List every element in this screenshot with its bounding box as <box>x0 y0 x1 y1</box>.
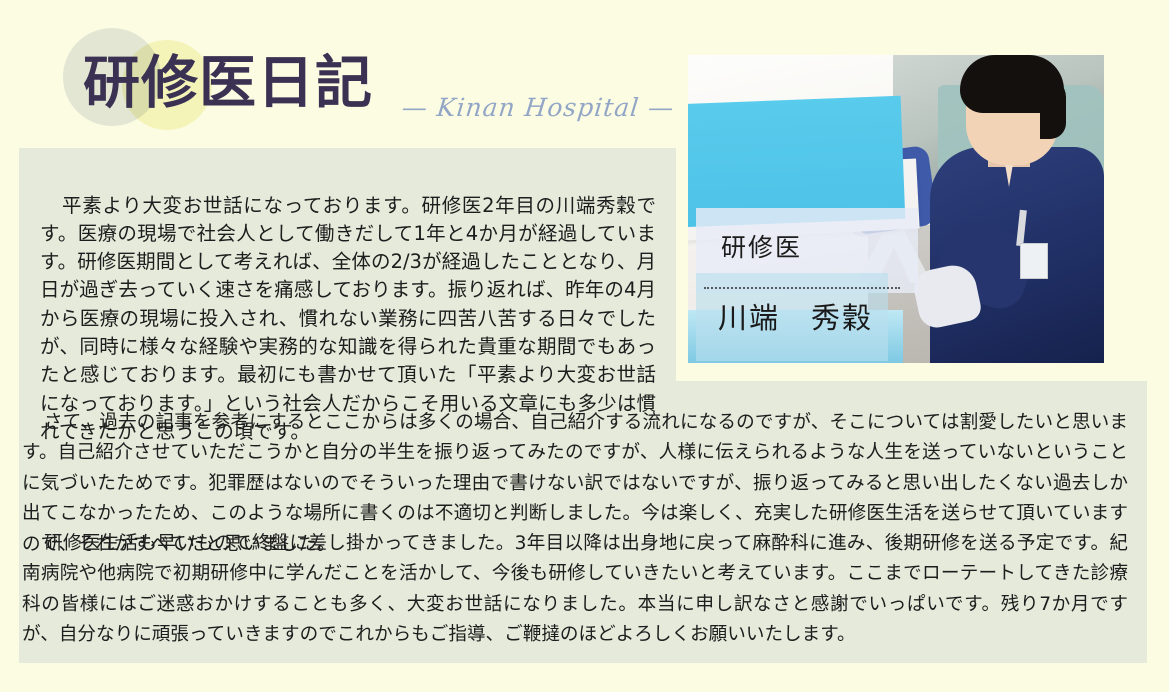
photo-name-label: 川端 秀穀 <box>718 295 873 337</box>
article-paragraph-3: 研修医生活も早いもので終盤に差し掛かってきました。3年目以降は出身地に戻って麻酔… <box>22 529 1128 651</box>
page-root: 研修医日記 — Kinan Hospital — 研修医 <box>0 0 1169 692</box>
page-title: 研修医日記 <box>83 55 373 112</box>
photo-role-label: 研修医 <box>721 228 802 264</box>
doctor-photo: 研修医 川端 秀穀 <box>688 55 1104 363</box>
photo-plate-divider <box>704 287 900 289</box>
photo-person-hair-side <box>1040 77 1066 139</box>
page-subtitle: — Kinan Hospital — <box>400 93 675 122</box>
page-header: 研修医日記 — Kinan Hospital — <box>0 0 700 150</box>
photo-id-badge <box>1020 243 1048 279</box>
